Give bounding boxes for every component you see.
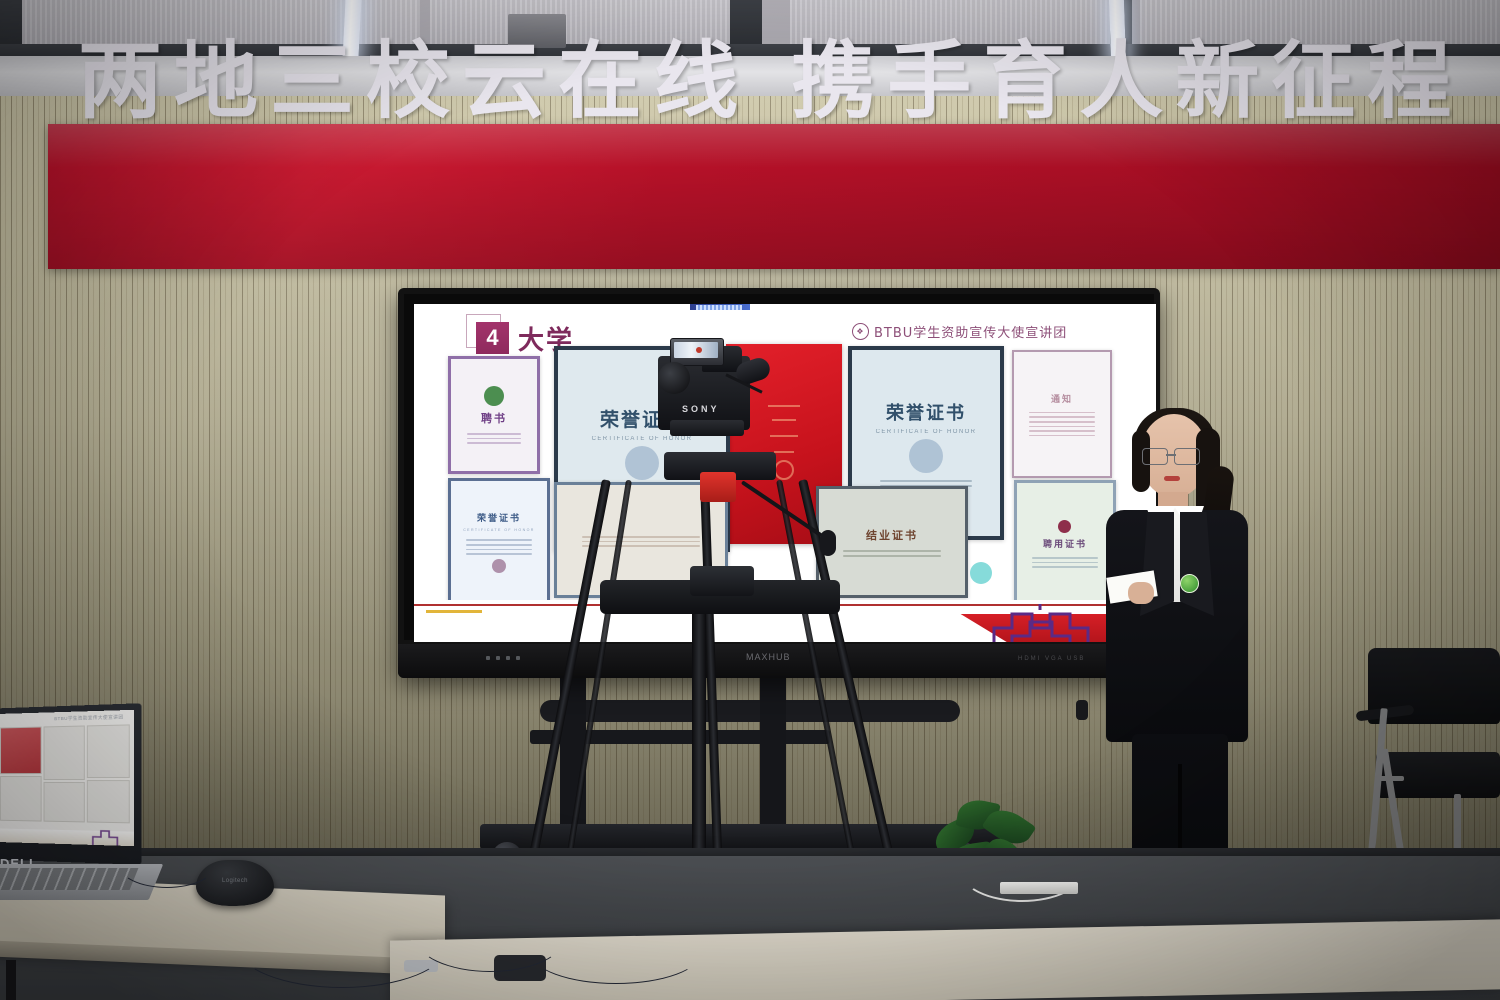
camera-record-indicator: ●	[696, 347, 702, 353]
cable	[236, 902, 448, 988]
ornament-icon	[85, 826, 126, 845]
certificate-title: 聘用证书	[1043, 537, 1087, 550]
tripod-head-lock[interactable]	[700, 472, 736, 502]
tripod-pan-knob[interactable]	[820, 530, 836, 556]
presentation-clicker[interactable]	[1076, 700, 1088, 720]
mouse-cable	[118, 840, 216, 888]
laptop-keyboard[interactable]	[0, 868, 138, 890]
chair-stretcher	[1376, 776, 1404, 781]
banner-sheen	[48, 124, 1500, 269]
glasses-lens-icon	[1142, 448, 1168, 465]
display-port-label: HDMI VGA USB	[1018, 656, 1085, 662]
laptop-slide-thumb	[87, 724, 130, 778]
power-strip[interactable]	[1000, 882, 1078, 894]
camera-lens	[658, 362, 690, 394]
certificate-seal-icon	[1058, 520, 1071, 533]
video-camera[interactable]: ● SONY	[640, 338, 780, 456]
laptop-screen[interactable]: BTBU学生资助宣传大使宣讲团	[0, 710, 134, 846]
banner-text: 两地三校云在线 携手育人新征程	[78, 4, 1458, 144]
tripod-spreader-hub	[690, 566, 754, 596]
laptop-slide-thumb	[44, 725, 85, 780]
classroom-presentation-scene: 两地三校云在线 携手育人新征程 4 大学 ❖ BTBU学生资助宣传大使宣讲团	[0, 0, 1500, 1000]
glasses-lens-icon	[1174, 448, 1200, 465]
side-table-leg	[6, 960, 16, 1000]
mouth	[1164, 476, 1180, 481]
laptop-slide-thumb	[87, 780, 130, 823]
mouse-brand-logo: Logitech	[222, 878, 248, 884]
certificate-title: 通知	[1051, 392, 1073, 405]
camera-brand-label: SONY	[682, 404, 720, 414]
laptop-screen-header: BTBU学生资助宣传大使宣讲团	[13, 714, 123, 724]
ceiling-beam	[0, 0, 22, 50]
laptop-slide-thumb	[0, 727, 42, 775]
camera-top-handle	[670, 420, 744, 436]
glasses-bridge-icon	[1166, 454, 1176, 456]
hand	[1128, 582, 1154, 604]
cable	[530, 920, 702, 984]
laptop-slide-thumb	[0, 776, 42, 822]
slide-app-bar-icons	[696, 305, 742, 310]
red-event-banner	[48, 124, 1500, 269]
badge-pin-icon	[1180, 574, 1199, 593]
laptop-slide-thumb	[44, 782, 85, 822]
